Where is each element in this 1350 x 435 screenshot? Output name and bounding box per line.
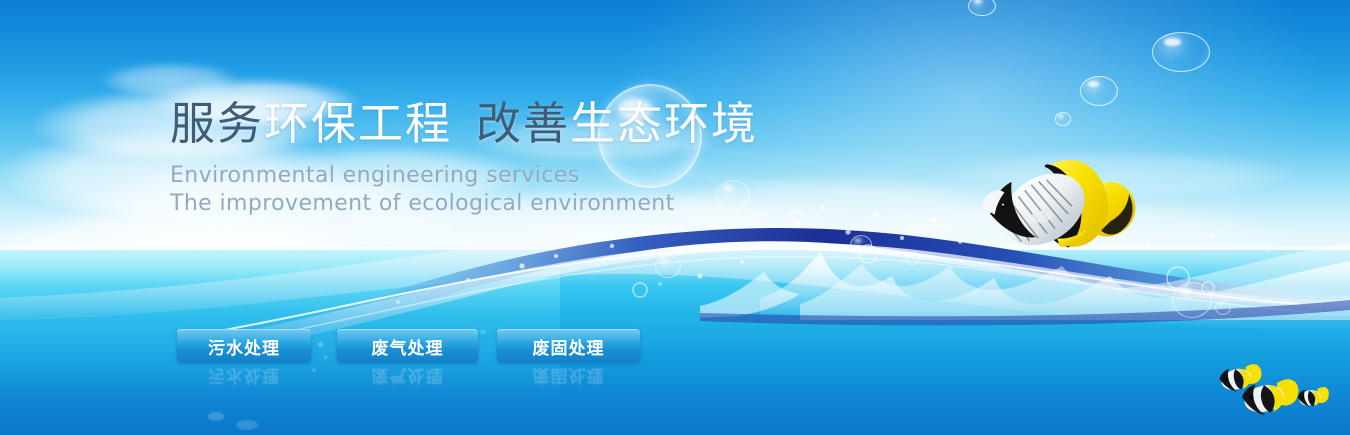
- air-bubble-icon: [905, 252, 919, 265]
- water-speck: [312, 368, 316, 372]
- water-speck: [318, 342, 323, 347]
- button-label: 污水处理: [208, 334, 280, 359]
- water-speck: [236, 420, 258, 430]
- button-sewage-treatment[interactable]: 污水处理: [177, 329, 311, 363]
- headline-segment-2: 环保工程: [264, 97, 452, 150]
- headline-segment-4: 生态环境: [570, 97, 758, 150]
- air-bubble-icon: [790, 210, 802, 221]
- button-label: 废固处理: [533, 334, 605, 359]
- subtitle-line-1: Environmental engineering services: [170, 163, 580, 188]
- button-exhaust-gas-treatment[interactable]: 废气处理: [337, 329, 478, 363]
- air-bubble-icon: [1172, 282, 1212, 318]
- subtitle-line-2: The improvement of ecological environmen…: [170, 191, 675, 216]
- page-title: 服务环保工程改善生态环境: [170, 98, 758, 150]
- button-label: 废气处理: [372, 334, 444, 359]
- water-speck: [208, 412, 224, 421]
- air-bubble-icon: [1080, 76, 1118, 106]
- water-speck: [324, 356, 327, 359]
- headline-segment-1: 服务: [170, 97, 264, 150]
- air-bubble-icon: [1215, 300, 1231, 315]
- air-bubble-icon: [1152, 32, 1210, 72]
- hero-banner: 服务环保工程改善生态环境 Environmental engineering s…: [0, 0, 1350, 435]
- air-bubble-icon: [1055, 112, 1071, 126]
- water-speck: [480, 330, 486, 334]
- headline-segment-3: 改善: [476, 97, 570, 150]
- air-bubble-icon: [716, 180, 750, 210]
- air-bubble-icon: [655, 255, 681, 278]
- button-solid-waste-treatment[interactable]: 废固处理: [497, 329, 640, 363]
- air-bubble-icon: [850, 235, 872, 255]
